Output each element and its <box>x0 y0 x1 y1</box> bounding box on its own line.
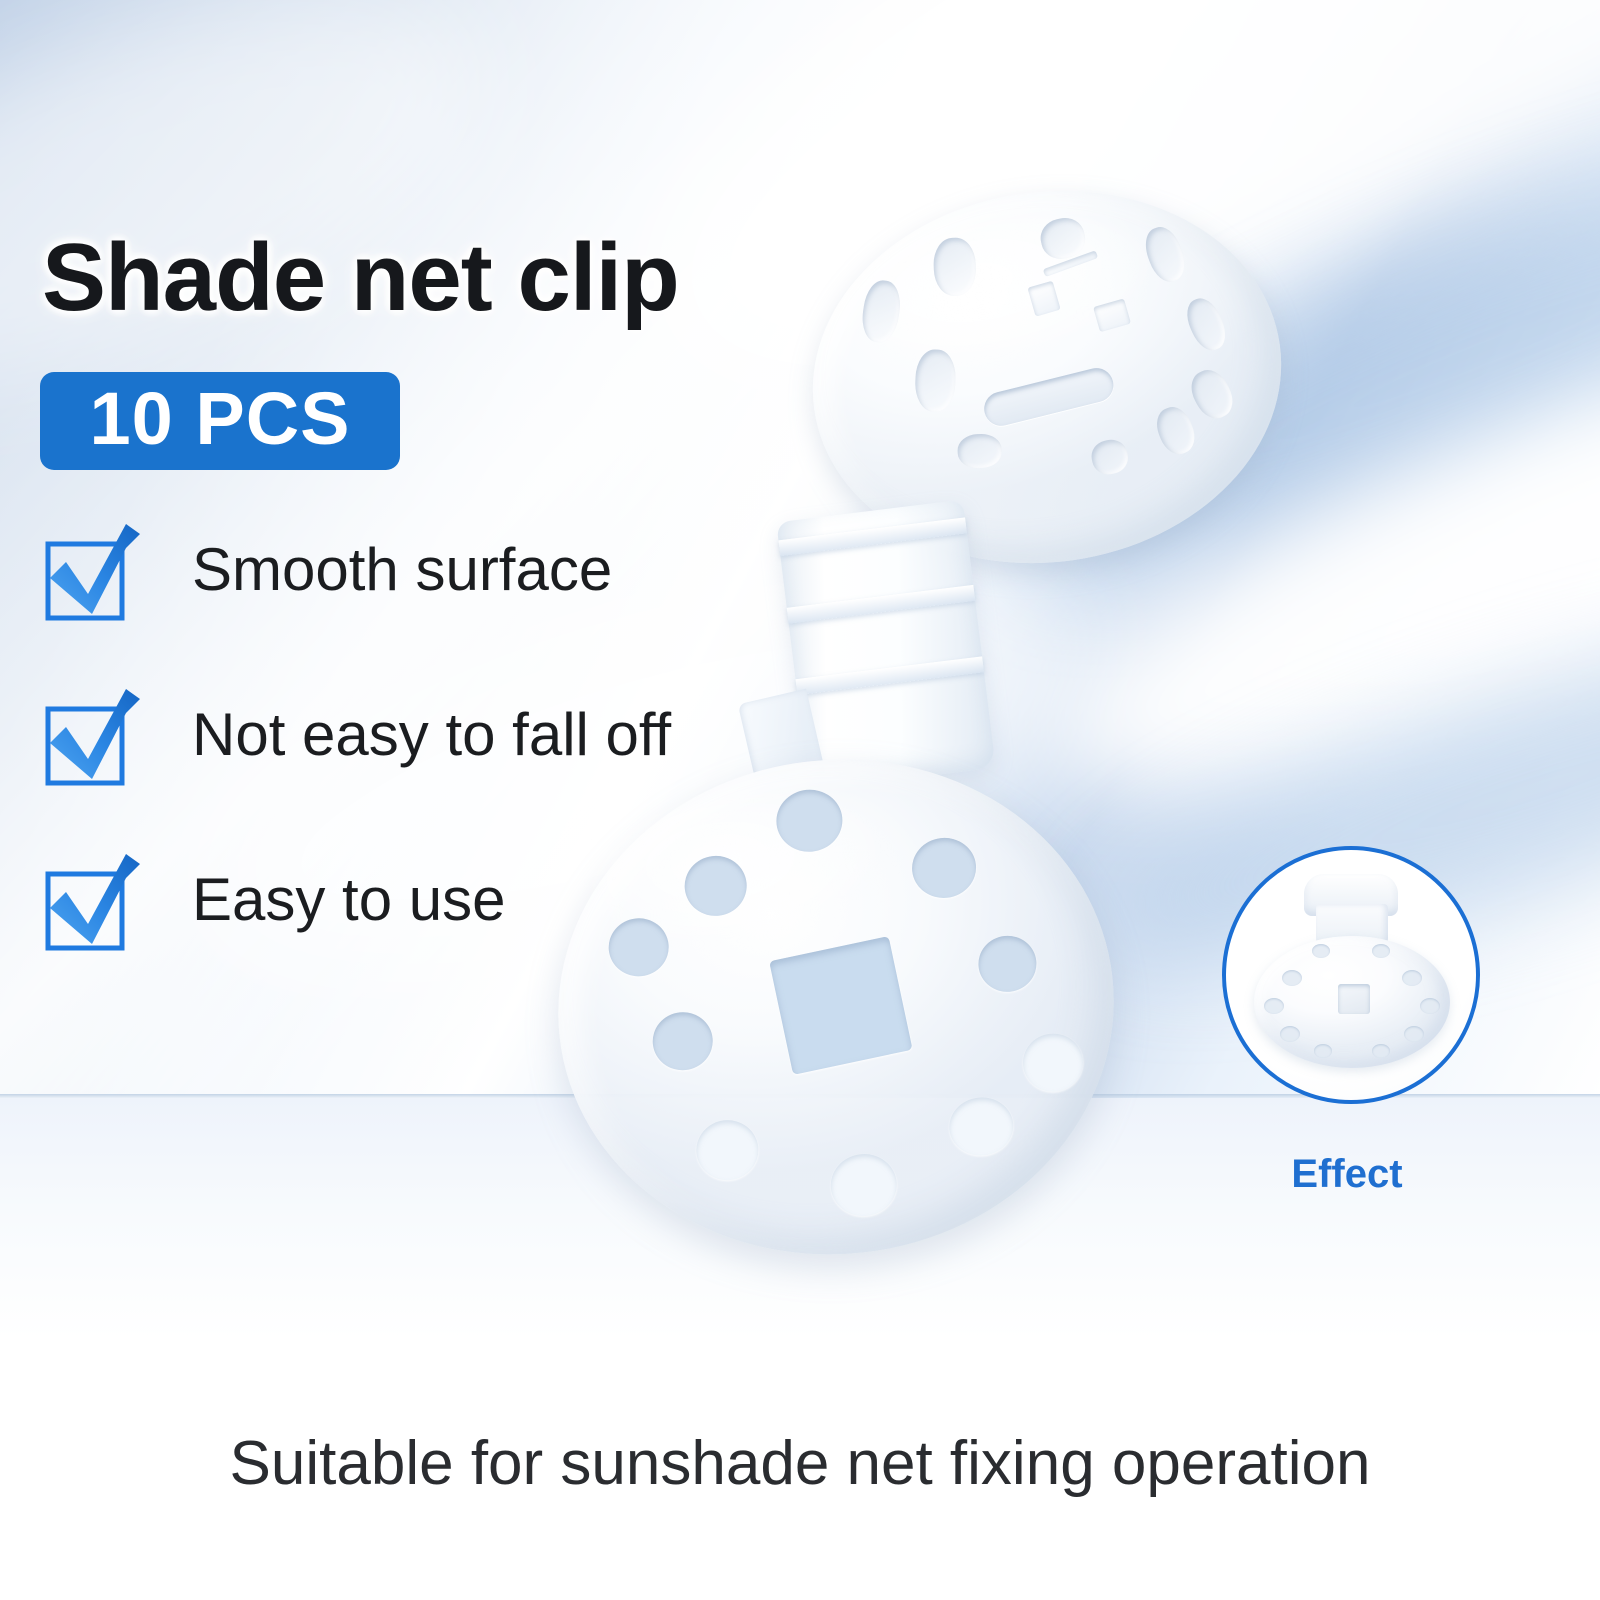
dimple <box>957 433 1002 469</box>
through-hole <box>976 933 1040 995</box>
dimple <box>1184 364 1239 425</box>
footer-caption: Suitable for sunshade net fixing operati… <box>0 1428 1600 1499</box>
through-hole <box>693 1117 761 1183</box>
checkbox-checked-icon <box>40 848 148 956</box>
through-hole <box>909 835 979 901</box>
dimple <box>1264 998 1284 1014</box>
hinge-ridge <box>787 585 976 624</box>
checkbox-checked-icon <box>40 518 148 626</box>
quantity-badge: 10 PCS <box>40 372 400 470</box>
dimple <box>1151 402 1201 459</box>
product-hinge <box>776 500 996 791</box>
through-hole <box>828 1151 900 1220</box>
clip-disc <box>1254 936 1450 1068</box>
dimple <box>1404 1026 1424 1042</box>
dimple <box>1089 437 1131 478</box>
product-marketing-image: Shade net clip 10 PCS <box>0 0 1600 1600</box>
dimple <box>914 349 956 412</box>
through-hole <box>946 1094 1016 1158</box>
product-image <box>540 160 1280 1270</box>
dimple <box>1372 944 1390 958</box>
highlight-sheen <box>851 200 1168 380</box>
quantity-badge-label: 10 PCS <box>89 382 350 456</box>
hinge-ridge <box>778 517 967 556</box>
dimple <box>933 237 977 296</box>
dimple <box>1372 1044 1390 1058</box>
dimple <box>1181 293 1232 355</box>
center-square-hole <box>1338 984 1370 1014</box>
center-square-hole <box>769 936 912 1075</box>
checkbox-checked-icon <box>40 683 148 791</box>
effect-label: Effect <box>1222 1154 1472 1194</box>
hinge-ridge <box>796 656 985 695</box>
center-slot <box>981 364 1117 429</box>
through-hole <box>1020 1031 1086 1095</box>
product-lower-disc <box>534 732 1139 1281</box>
dimple <box>1420 998 1440 1014</box>
dimple <box>1402 970 1422 986</box>
feature-label: Easy to use <box>192 864 506 936</box>
effect-inset: Effect <box>1222 846 1480 1246</box>
dimple <box>1312 944 1330 958</box>
effect-circle-frame <box>1222 846 1480 1104</box>
dimple <box>1280 1026 1300 1042</box>
dimple <box>1282 970 1302 986</box>
through-hole <box>650 1009 716 1073</box>
dimple <box>1314 1044 1332 1058</box>
